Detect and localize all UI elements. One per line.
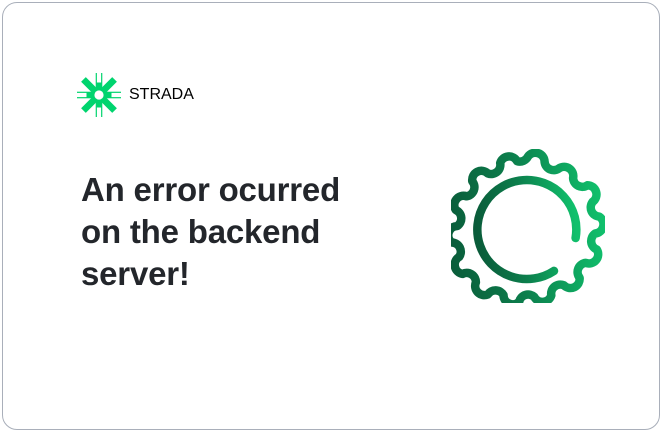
error-card: STRADA An error ocurred on the backend s…: [2, 2, 660, 430]
strada-asterisk-mark-icon: [77, 73, 121, 117]
brand-wordmark: STRADA: [129, 86, 194, 104]
gear-icon: [451, 149, 605, 303]
brand-lockup: STRADA: [77, 71, 194, 119]
error-message: An error ocurred on the backend server!: [81, 169, 371, 295]
